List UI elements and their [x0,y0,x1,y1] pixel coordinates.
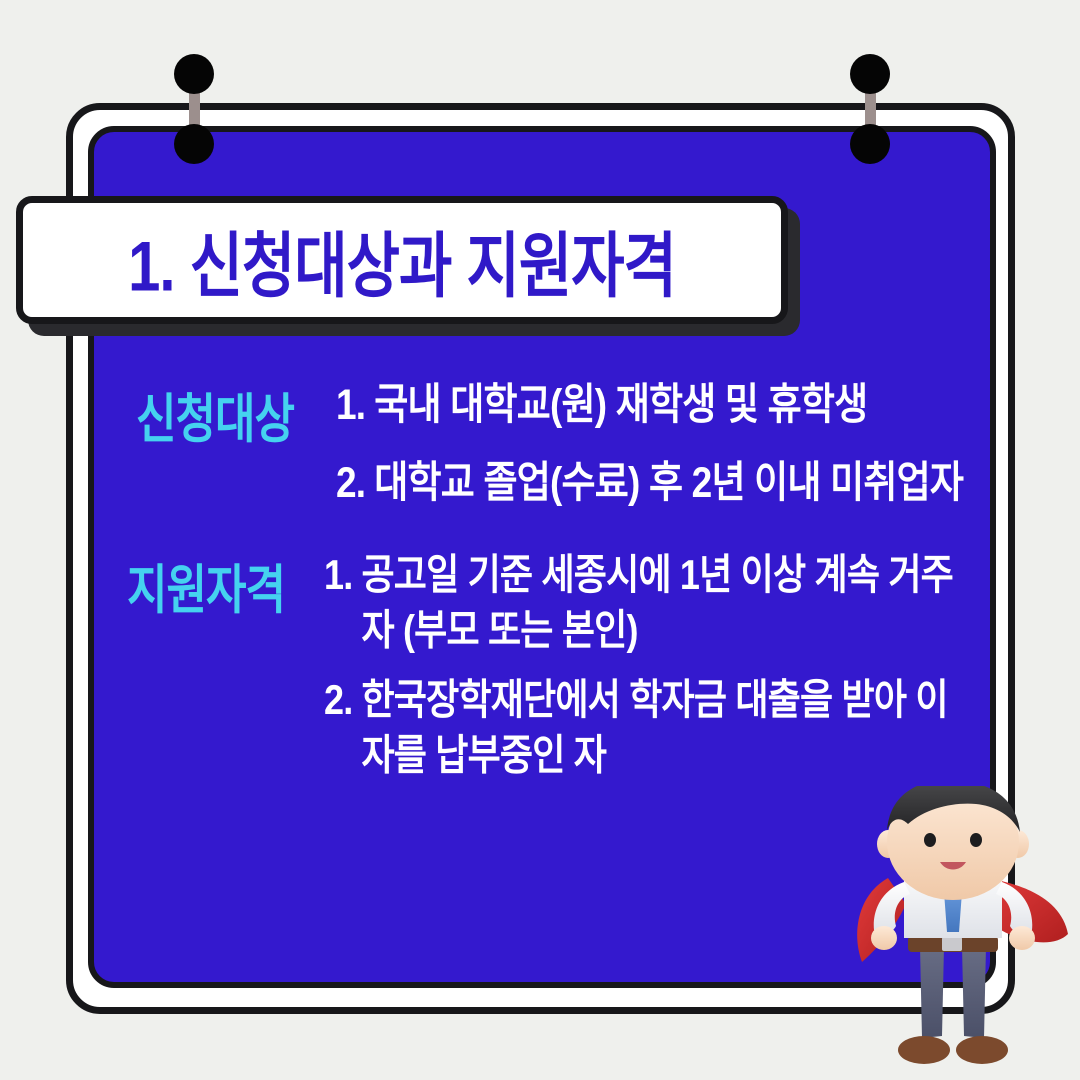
list-item: 1. 국내 대학교(원) 재학생 및 휴학생 [336,376,978,434]
infographic-card: 1. 신청대상과 지원자격 신청대상 1. 국내 대학교(원) 재학생 및 휴학… [0,0,1080,1080]
pin-head-bottom [174,124,214,164]
title-banner-body: 1. 신청대상과 지원자격 [16,196,788,324]
list-item: 2. 한국장학재단에서 학자금 대출을 받아 이자를 납부중인 자 [324,672,978,784]
list-item-number: 2. [336,454,374,512]
title-banner: 1. 신청대상과 지원자격 [16,196,800,336]
page-title: 1. 신청대상과 지원자격 [128,209,676,311]
list-item-text: 공고일 기준 세종시에 1년 이상 계속 거주자 (부모 또는 본인) [361,547,978,659]
pin-head-top [174,54,214,94]
shoe-left [898,1036,950,1064]
section-items-eligibility: 1. 공고일 기준 세종시에 1년 이상 계속 거주자 (부모 또는 본인) 2… [324,547,996,768]
list-item-number: 2. [324,672,361,784]
list-item-number: 1. [336,376,374,434]
list-item-text: 대학교 졸업(수료) 후 2년 이내 미취업자 [374,454,978,512]
list-item-number: 1. [324,547,361,659]
list-item-text: 국내 대학교(원) 재학생 및 휴학생 [374,376,978,434]
section-application-target: 신청대상 1. 국내 대학교(원) 재학생 및 휴학생 2. 대학교 졸업(수료… [88,376,996,503]
section-eligibility: 지원자격 1. 공고일 기준 세종시에 1년 이상 계속 거주자 (부모 또는 … [88,547,996,768]
list-item: 1. 공고일 기준 세종시에 1년 이상 계속 거주자 (부모 또는 본인) [324,547,978,659]
section-items-application-target: 1. 국내 대학교(원) 재학생 및 휴학생 2. 대학교 졸업(수료) 후 2… [336,376,996,503]
list-item-text: 한국장학재단에서 학자금 대출을 받아 이자를 납부중인 자 [361,672,978,784]
list-item: 2. 대학교 졸업(수료) 후 2년 이내 미취업자 [336,454,978,512]
pin-head-top [850,54,890,94]
shoe-right [956,1036,1008,1064]
section-label-eligibility: 지원자격 [88,547,324,624]
section-label-application-target: 신청대상 [96,376,334,453]
pin-head-bottom [850,124,890,164]
